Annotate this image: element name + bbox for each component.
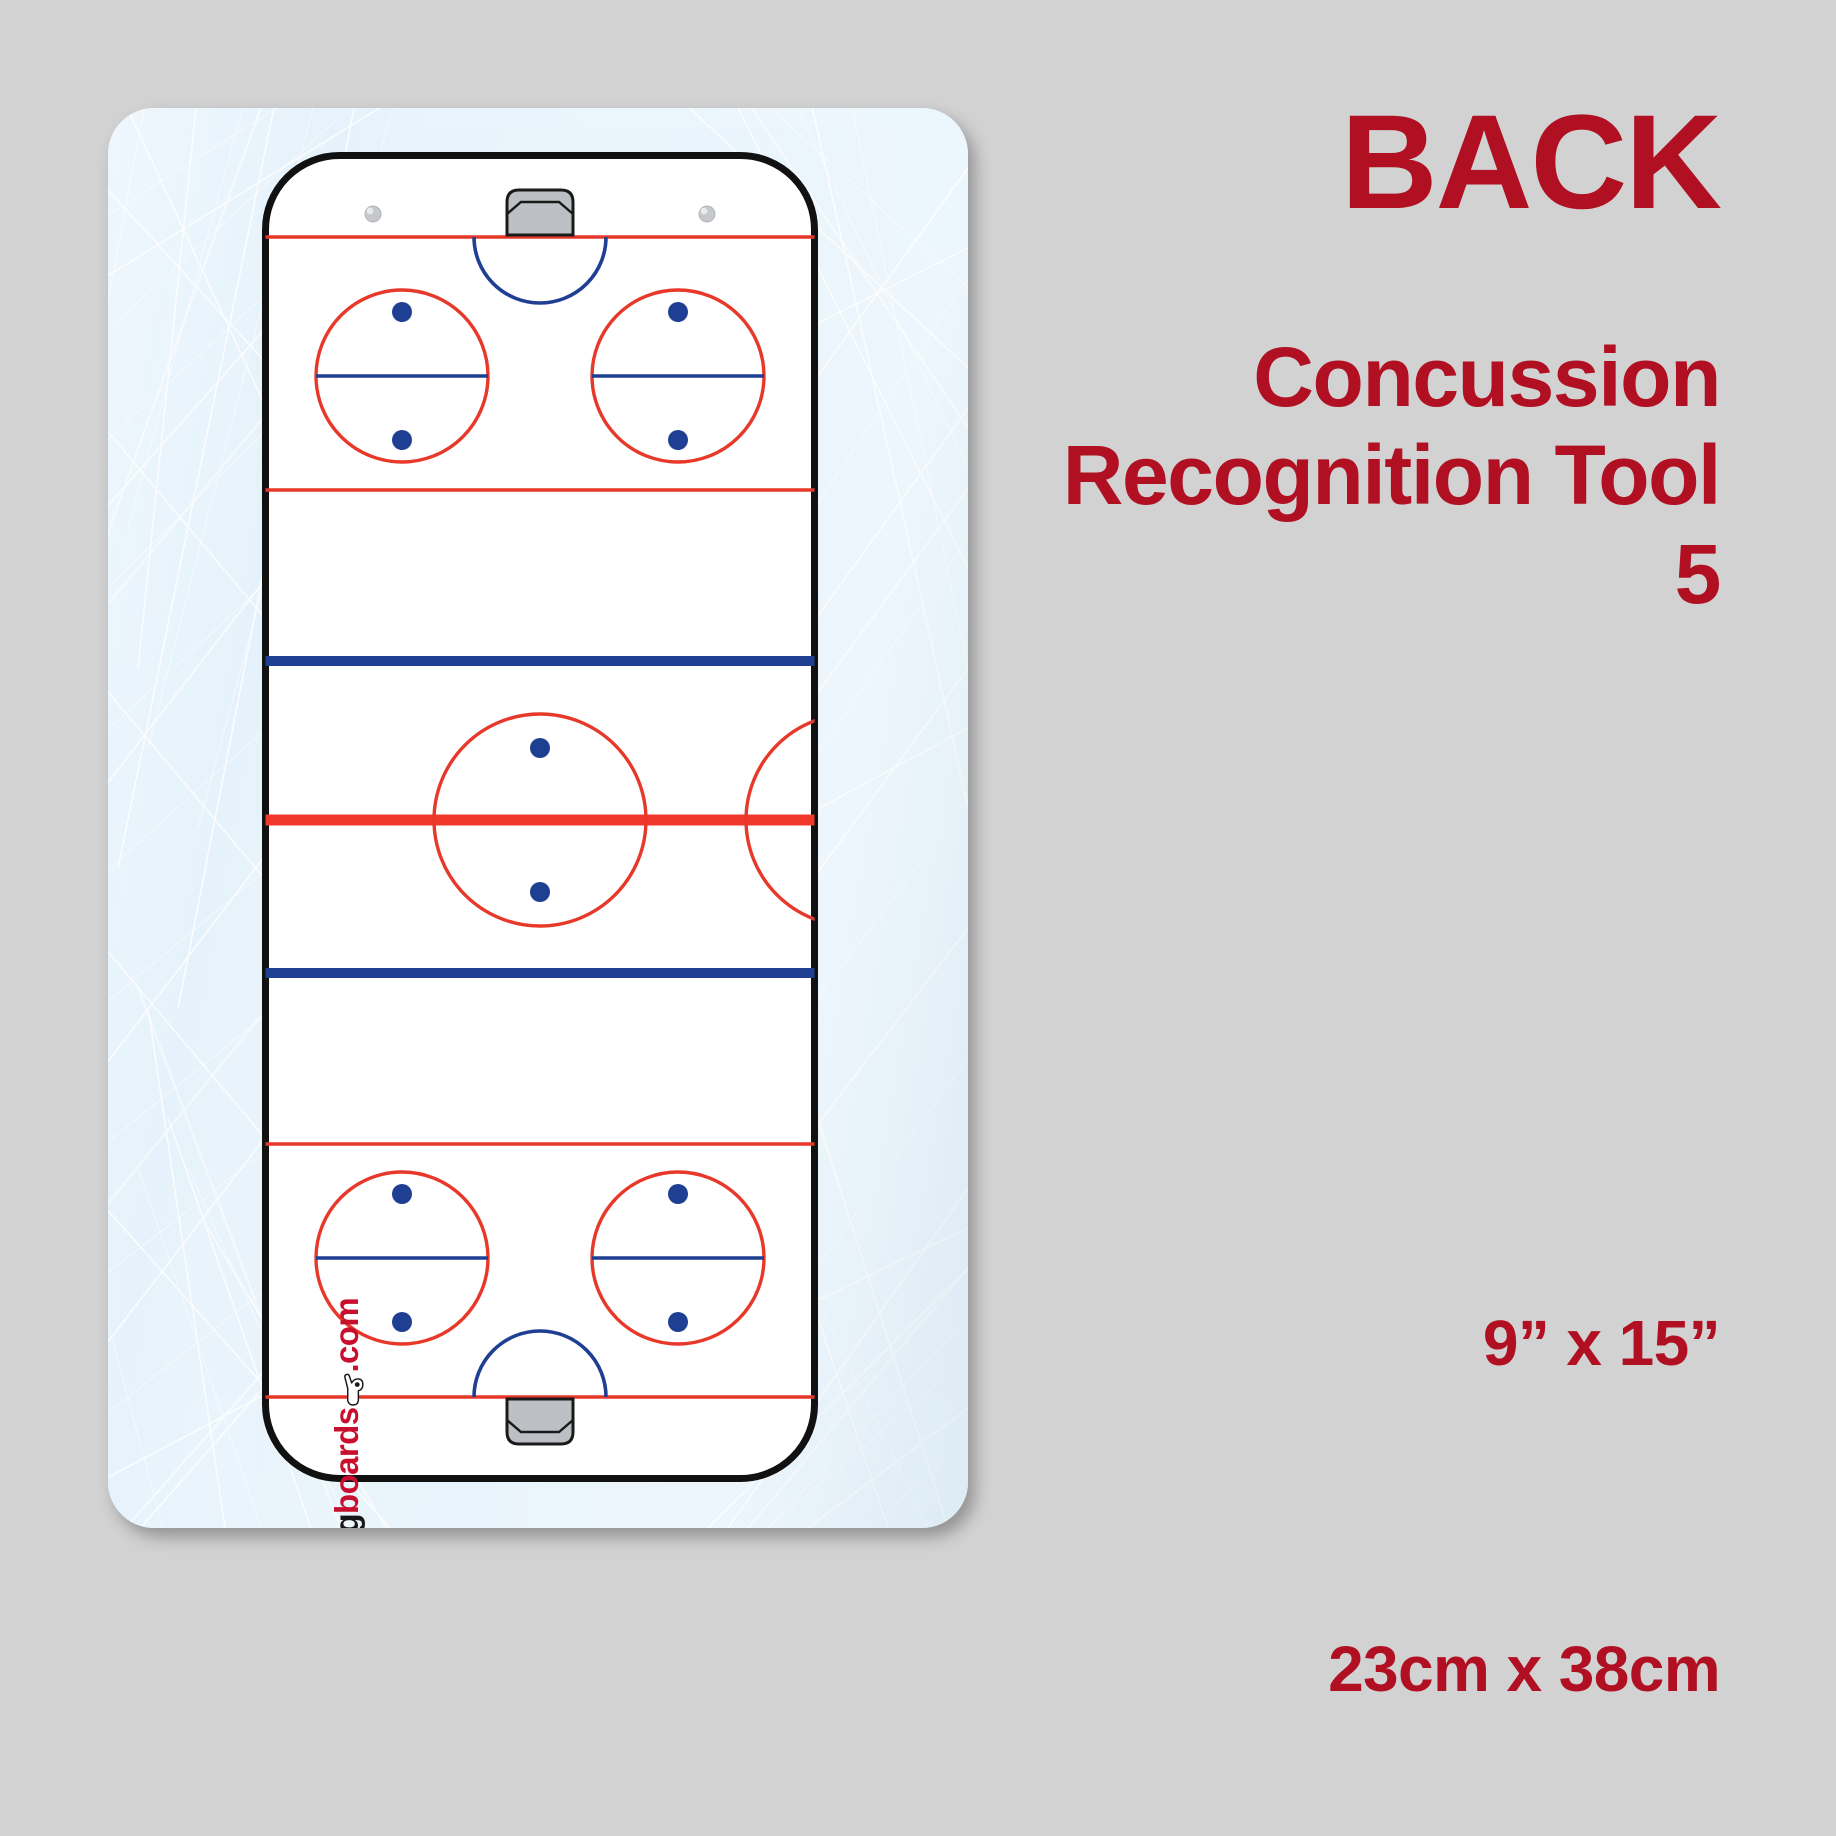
faceoff-circle-top-left bbox=[316, 290, 488, 462]
rivet-top-left bbox=[365, 206, 381, 222]
brand-logo-coaching: coaching bbox=[330, 1514, 363, 1528]
whistle-icon bbox=[337, 1373, 359, 1407]
board-side-label: BACK bbox=[1341, 96, 1720, 230]
goal-net-bottom bbox=[507, 1399, 573, 1444]
size-metric: 23cm x 38cm bbox=[1328, 1632, 1720, 1706]
rivet-top-right bbox=[699, 206, 715, 222]
faceoff-circle-bottom-right bbox=[592, 1172, 764, 1344]
rink-diagram bbox=[262, 152, 818, 1482]
brand-logo-boards: boards bbox=[330, 1408, 363, 1514]
faceoff-circle-top-right bbox=[592, 290, 764, 462]
goal-net-top bbox=[507, 190, 573, 235]
product-title: Concussion Recognition Tool 5 bbox=[1020, 328, 1720, 623]
brand-logo-com: .com bbox=[330, 1298, 363, 1373]
brand-logo-bottom-left[interactable]: coachingboards.com bbox=[330, 1298, 363, 1528]
size-imperial: 9” x 15” bbox=[1483, 1306, 1720, 1380]
board-surface: Rink diagram is to scale based on offici… bbox=[108, 108, 968, 1528]
product-info-panel: BACK Concussion Recognition Tool 5 9” x … bbox=[1018, 0, 1778, 1836]
product-board: Rink diagram is to scale based on offici… bbox=[108, 108, 968, 1528]
